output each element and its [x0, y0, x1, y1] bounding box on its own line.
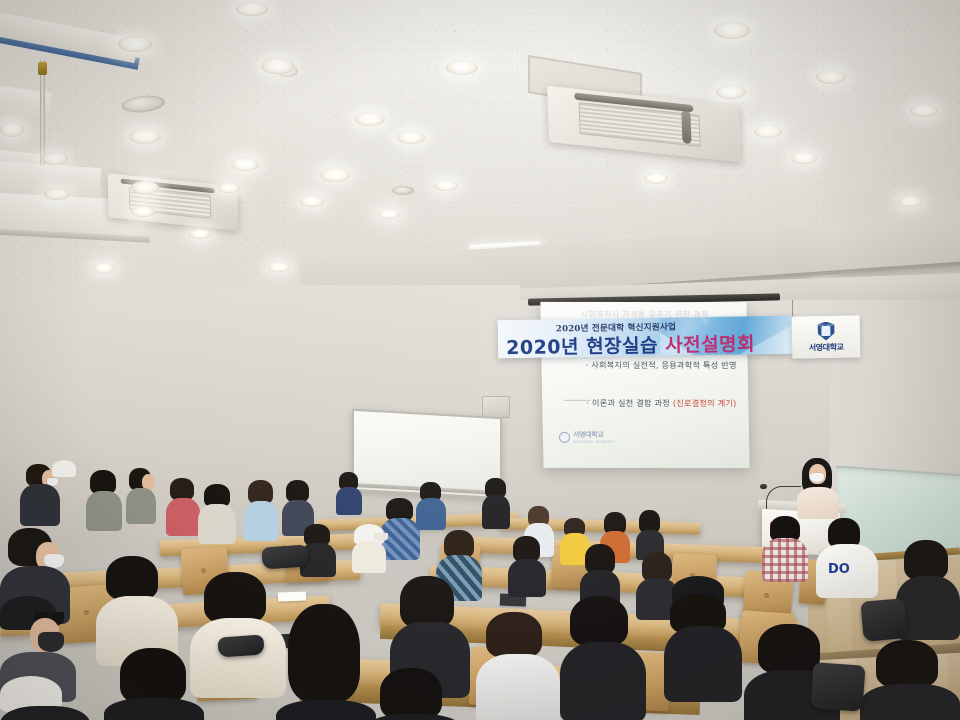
- backpack: [217, 634, 264, 657]
- downlight: [910, 104, 938, 117]
- downlight: [261, 58, 295, 74]
- torso: [86, 491, 122, 531]
- hair: [758, 624, 820, 674]
- hair: [288, 604, 360, 702]
- backpack: [810, 662, 865, 712]
- audience-member: [190, 572, 286, 692]
- downlight: [816, 70, 846, 84]
- audience-member: [580, 544, 620, 604]
- university-crest-icon: SEOYEONG UNIVERSITY: [817, 321, 834, 340]
- backpack: [261, 544, 308, 569]
- presenter: [796, 458, 842, 516]
- downlight: [131, 181, 159, 194]
- banner-university-name: 서영대학교: [809, 341, 844, 353]
- torso: [482, 495, 510, 529]
- downlight: [355, 112, 385, 126]
- white-cap: [52, 460, 76, 477]
- torso: [244, 501, 278, 541]
- downlight: [446, 60, 478, 75]
- downlight: [42, 153, 68, 165]
- ac-vent-louver: [682, 110, 692, 144]
- downlight: [300, 196, 324, 207]
- sprinkler-drop-pipe: [40, 60, 45, 165]
- audience-member: [0, 676, 90, 720]
- cap-brim: [374, 533, 388, 541]
- slide-footer-logo-name: 서영대학교: [573, 430, 616, 440]
- chair-knob: [764, 593, 769, 598]
- banner-title-red: 사전설명회: [665, 333, 755, 356]
- hair: [486, 612, 542, 658]
- microphone-head-icon: [760, 484, 767, 489]
- hair: [444, 530, 474, 558]
- downlight: [218, 183, 240, 193]
- slide-bullet-1-text: · 사회복지의 실전적, 응용과학적 특성 반영: [586, 360, 737, 370]
- downlight: [93, 263, 115, 273]
- torso: [416, 498, 446, 530]
- event-banner: 2020년 전문대학 혁신지원사업 2020년 현장실습 사전설명회: [498, 316, 793, 359]
- jersey-lettering: DO: [828, 562, 850, 577]
- torso: [336, 487, 362, 515]
- sprinkler-head-icon: [38, 62, 47, 75]
- downlight: [131, 206, 155, 217]
- audience-member: [86, 470, 122, 528]
- presenter-face-mask: [810, 473, 824, 482]
- audience-member: [52, 460, 76, 486]
- torso-cream: [190, 618, 286, 698]
- torso: [508, 559, 546, 597]
- slide-footer-logo: 서영대학교 SEOYEONG UNIVERSITY: [559, 430, 616, 444]
- face-mask: [38, 632, 64, 652]
- hair: [204, 572, 266, 624]
- downlight: [129, 129, 161, 144]
- hair: [380, 668, 442, 720]
- banner-university-panel: SEOYEONG UNIVERSITY 서영대학교: [792, 315, 861, 358]
- banner-title-blue: 2020년 현장실습: [506, 335, 665, 359]
- downlight: [791, 152, 817, 164]
- downlight: [434, 180, 458, 191]
- torso: [860, 684, 960, 720]
- banner-title: 2020년 현장실습 사전설명회: [506, 329, 755, 358]
- torso: [352, 541, 386, 573]
- torso: [20, 484, 60, 526]
- audience-member: [336, 472, 362, 512]
- torso: [560, 642, 646, 720]
- torso-plaid: [762, 538, 808, 582]
- lecture-hall-photo: 사회복지사 자격을 갖추기 위한 과정 · 사회복지의 실전적, 응용과학적 특…: [0, 0, 960, 720]
- hair: [106, 556, 158, 600]
- audience-member: [276, 604, 376, 720]
- downlight: [231, 158, 259, 171]
- torso: [166, 498, 200, 536]
- slide-footer-logo-sub: SEOYEONG UNIVERSITY: [573, 440, 616, 444]
- downlight: [268, 262, 290, 272]
- hair: [904, 540, 948, 580]
- torso: [664, 626, 742, 702]
- audience-member: [366, 668, 462, 720]
- torso-light: [476, 654, 560, 720]
- ceiling-speaker: [392, 186, 414, 195]
- downlight: [754, 125, 782, 138]
- audience-member: [636, 510, 664, 556]
- university-crest-icon: [559, 431, 570, 442]
- downlight: [236, 2, 268, 16]
- downlight: [0, 122, 24, 137]
- hair: [286, 480, 309, 502]
- audience-member: [104, 648, 204, 720]
- backpack: [860, 598, 907, 642]
- hair: [120, 648, 186, 704]
- audience-member: [380, 498, 420, 556]
- torso: [126, 488, 156, 524]
- hair: [876, 640, 938, 688]
- audience-member: [416, 482, 446, 526]
- audience-member: [762, 516, 808, 578]
- hair: [570, 596, 628, 646]
- audience-member: [198, 484, 236, 540]
- audience-member: [352, 524, 386, 568]
- torso: [104, 698, 204, 720]
- slide-bullet-2: · 이론과 실천 결합 과정 (진로결정의 계기): [586, 397, 736, 409]
- downlight: [118, 36, 152, 52]
- downlight: [378, 209, 400, 219]
- audience-member: [560, 596, 646, 716]
- presenter-blouse: [797, 487, 839, 519]
- downlight: [644, 173, 668, 184]
- slide-bullet-2-highlight: (진로결정의 계기): [673, 398, 737, 408]
- audience-member: [664, 576, 742, 696]
- hair: [400, 576, 454, 628]
- torso: [366, 714, 462, 720]
- slide-bullet-1: · 사회복지의 실전적, 응용과학적 특성 반영: [585, 359, 736, 371]
- audience-member: [508, 536, 546, 592]
- audience-member: [166, 478, 200, 532]
- chair-knob: [84, 610, 89, 615]
- audience-member: [244, 480, 278, 536]
- audience-member: [126, 468, 156, 520]
- crest-inner-shape: [821, 326, 830, 336]
- audience-member: [860, 640, 960, 720]
- audience-member-do-jersey: DO: [816, 518, 878, 600]
- downlight: [320, 168, 350, 182]
- hair: [170, 478, 194, 500]
- audience-member: [476, 612, 560, 720]
- downlight: [44, 188, 70, 200]
- audience-member: [96, 556, 178, 660]
- downlight: [397, 131, 425, 144]
- downlight: [716, 85, 746, 99]
- audience-member: [482, 478, 510, 524]
- slide-bullet-2-text: · 이론과 실천 결합 과정: [586, 398, 673, 408]
- downlight: [898, 196, 922, 207]
- downlight: [714, 22, 750, 39]
- wall-speaker: [482, 396, 510, 418]
- torso: [198, 504, 236, 544]
- torso: [276, 700, 376, 720]
- downlight: [189, 229, 211, 239]
